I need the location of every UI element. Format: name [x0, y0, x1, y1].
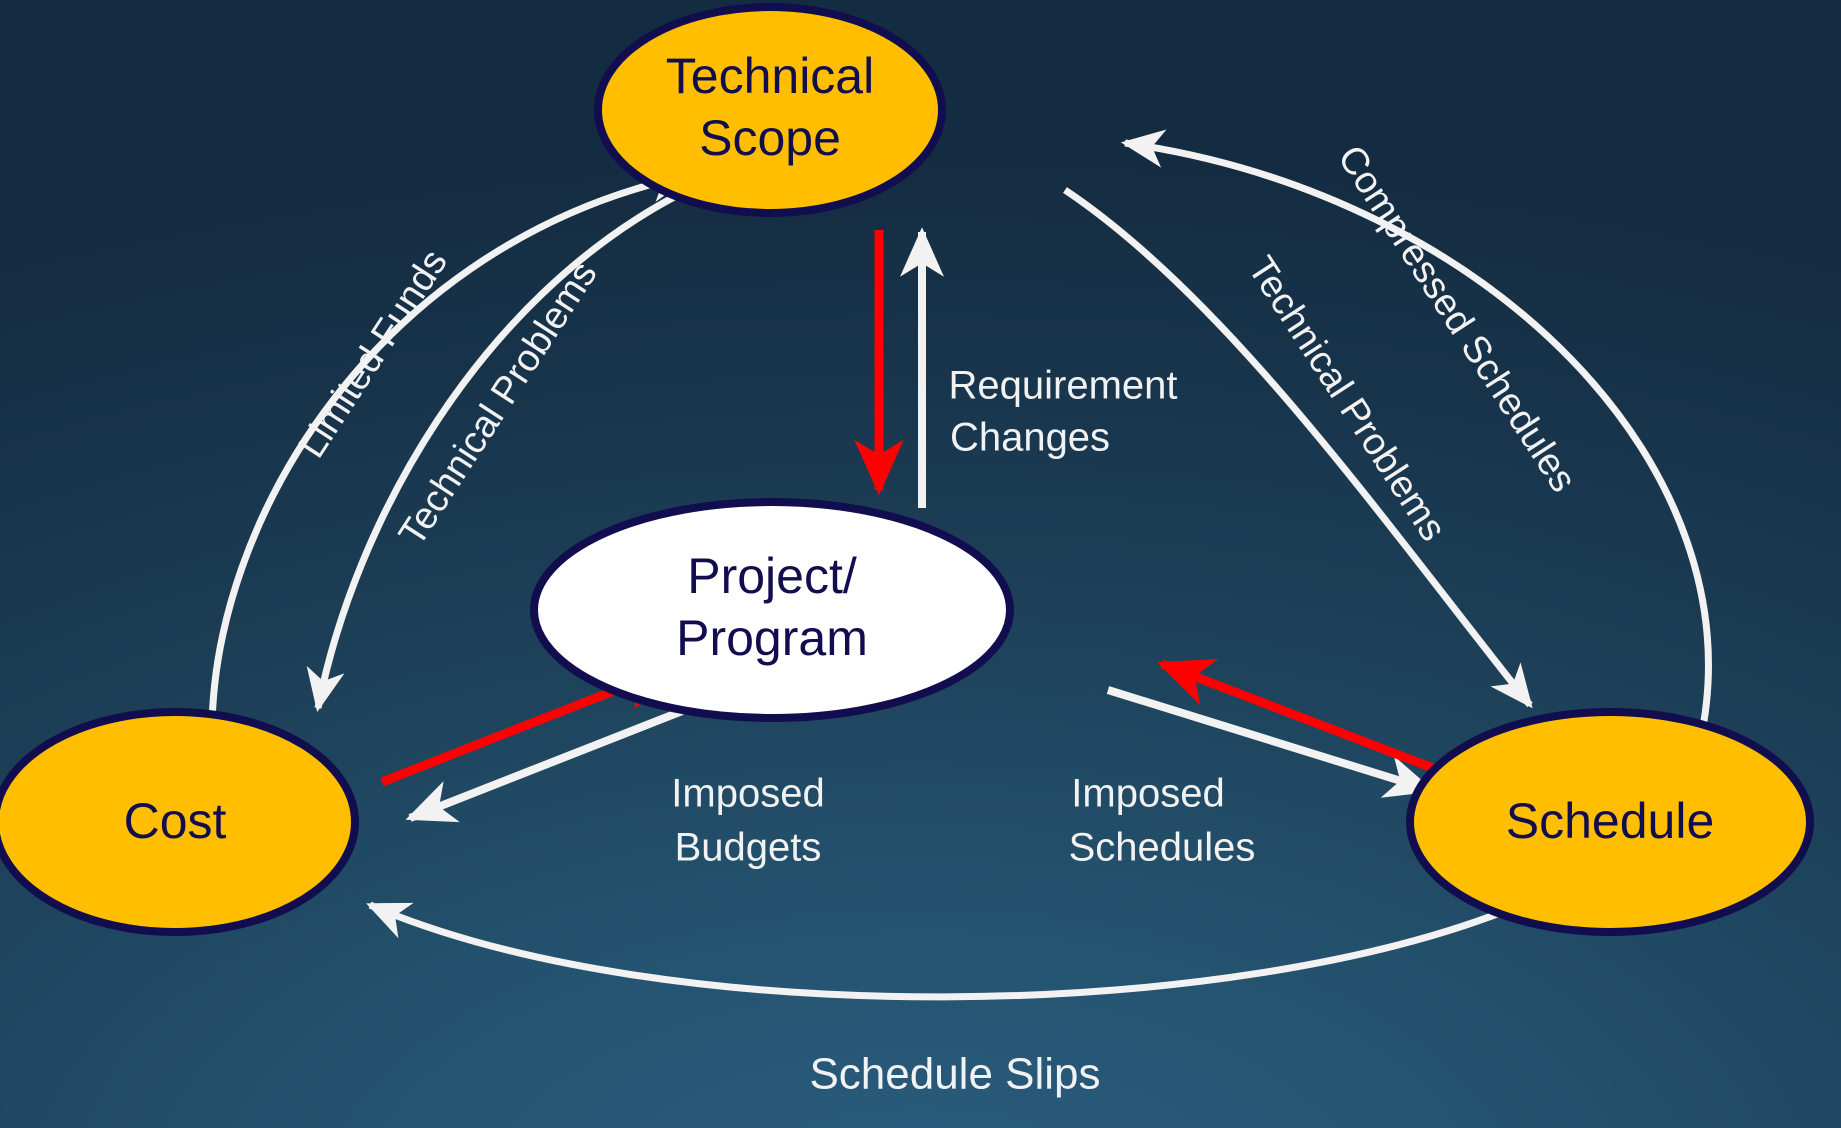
node-technical-scope-shape [598, 7, 942, 213]
node-project-program[interactable]: Project/ Program [534, 502, 1010, 718]
edge-label-imposed-budgets-line2: Budgets [675, 826, 822, 870]
node-technical-scope[interactable]: Technical Scope [598, 7, 942, 213]
edge-schedule-slips [370, 905, 1520, 997]
node-project-program-shape [534, 502, 1010, 718]
edge-label-technical-problems-right: Technical Problems [1239, 249, 1454, 548]
node-schedule-shape [1410, 712, 1810, 932]
edge-label-imposed-schedules-line1: Imposed [1071, 772, 1224, 816]
edge-label-technical-problems-left: Technical Problems [391, 254, 606, 553]
edge-label-compressed-schedules: Compressed Schedules [1329, 138, 1584, 499]
edge-label-requirement-changes-line1: Requirement [948, 364, 1177, 408]
node-cost[interactable]: Cost [0, 712, 355, 932]
constraint-triangle-diagram: Technical Scope Project/ Program Cost Sc… [0, 0, 1841, 1128]
node-cost-shape [0, 712, 355, 932]
node-schedule[interactable]: Schedule [1410, 712, 1810, 932]
edge-label-requirement-changes-line2: Changes [950, 416, 1110, 460]
edge-label-imposed-schedules-line2: Schedules [1069, 826, 1256, 870]
edge-label-schedule-slips: Schedule Slips [809, 1050, 1100, 1099]
edge-compressed-schedules [1125, 143, 1708, 742]
edge-label-imposed-budgets-line1: Imposed [671, 772, 824, 816]
diagram-canvas: Technical Scope Project/ Program Cost Sc… [0, 0, 1841, 1128]
